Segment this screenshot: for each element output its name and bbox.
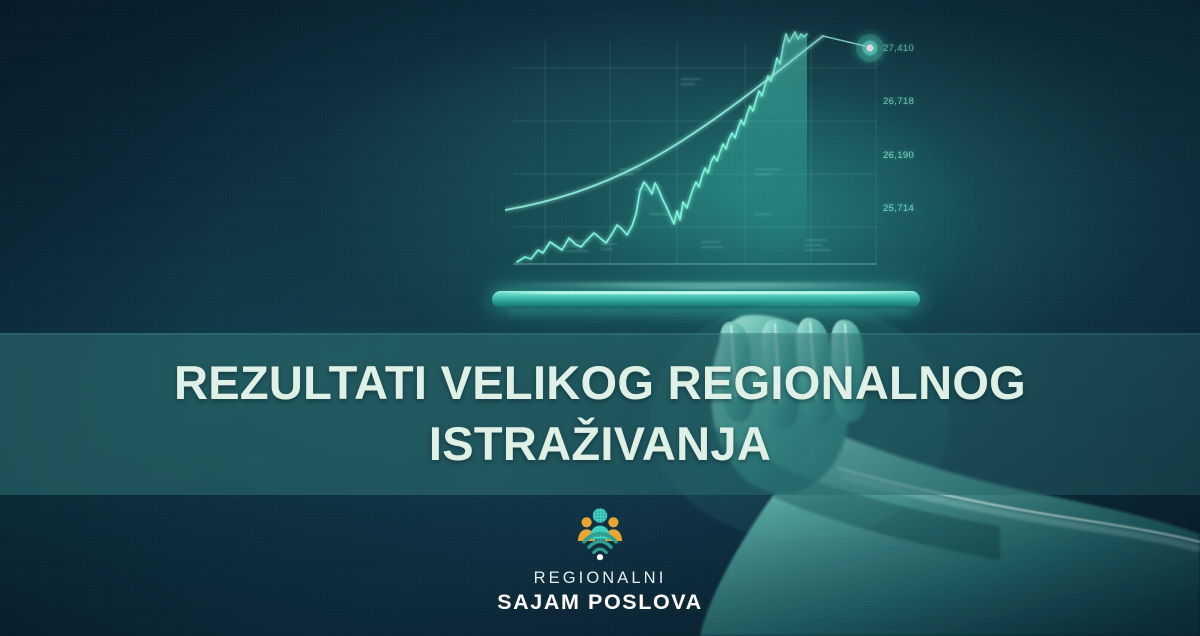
logo-wifi-dot <box>597 554 603 560</box>
logo-head-dot-texture <box>592 507 608 524</box>
title-line-2: ISTRAŽIVANJA <box>0 413 1200 474</box>
logo-name-top: REGIONALNI <box>0 569 1200 588</box>
three-people-wifi-icon <box>571 505 629 563</box>
logo-name-bottom: SAJAM POSLOVA <box>0 589 1200 615</box>
promo-banner: 27,410 26,718 26,190 25,714 <box>0 0 1200 636</box>
page-title: REZULTATI VELIKOG REGIONALNOG ISTRAŽIVAN… <box>0 352 1200 474</box>
brand-logo[interactable]: REGIONALNI SAJAM POSLOVA <box>0 505 1200 615</box>
logo-person-right-head <box>608 517 618 527</box>
band-top-edge <box>0 333 1200 335</box>
title-line-1: REZULTATI VELIKOG REGIONALNOG <box>0 352 1200 413</box>
logo-person-left-head <box>582 517 592 527</box>
